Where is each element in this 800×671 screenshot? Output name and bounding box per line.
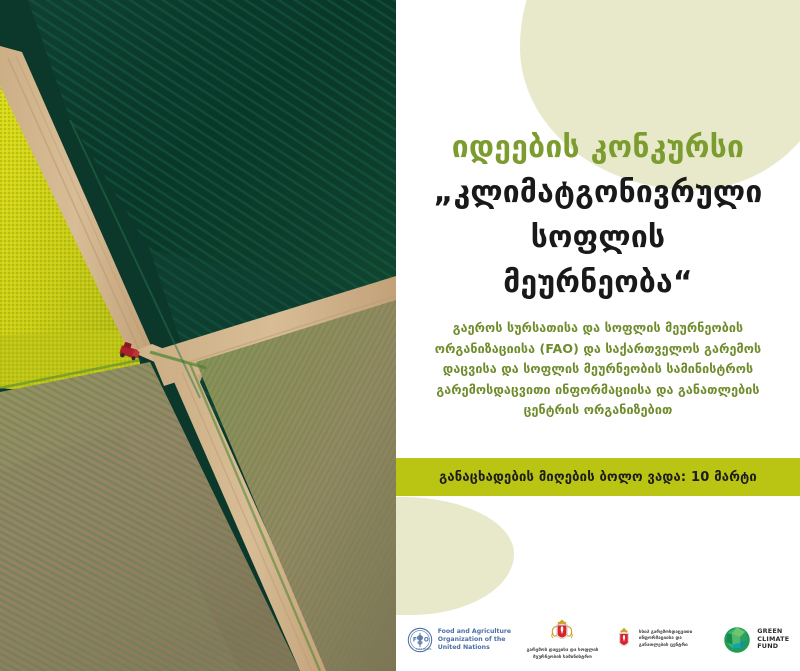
gcf-logo-text: GREEN CLIMATE FUND (757, 628, 789, 651)
description-line: დაცვისა და სოფლის მეურნეობის სამინისტროს (404, 359, 792, 380)
description-line: ცენტრის ორგანიზებით (404, 400, 792, 421)
deadline-banner: განაცხადების მიღების ბოლო ვადა: 10 მარტი (396, 458, 800, 496)
env-center-line-3: განათლების ცენტრი (639, 643, 717, 649)
ministry-logo-text: გარემოს დაცვისა და სოფლის მეურნეობის სამ… (516, 648, 608, 660)
title-line-2b: სოფლის (396, 216, 800, 259)
env-center-emblem-icon (614, 627, 634, 653)
fao-logo-text: Food and Agriculture Organization of the… (438, 628, 511, 652)
logo-strip: F O FIAT PANIS Food and Agriculture Orga… (396, 608, 800, 671)
panel-content: იდეების კონკურსი „კლიმატგონივრული სოფლის… (396, 0, 800, 671)
fao-line-1: Food and Agriculture (438, 628, 511, 636)
description-line: ორგანიზაციისა (FAO) და საქართველოს გარემ… (404, 339, 792, 360)
content-panel: იდეების კონკურსი „კლიმატგონივრული სოფლის… (396, 0, 800, 671)
ministry-logo: გარემოს დაცვისა და სოფლის მეურნეობის სამ… (516, 618, 608, 660)
gcf-line-3: FUND (757, 643, 789, 651)
title-line-2c: მეურნეობა“ (396, 261, 800, 304)
deadline-text: განაცხადების მიღების ბოლო ვადა: 10 მარტი (439, 470, 757, 485)
poster-title: იდეების კონკურსი „კლიმატგონივრული სოფლის… (396, 127, 800, 304)
svg-text:O: O (424, 637, 429, 643)
title-line-1: იდეების კონკურსი (396, 127, 800, 169)
green-climate-fund-logo: GREEN CLIMATE FUND (722, 625, 789, 655)
fao-line-2: Organization of the (438, 636, 511, 644)
fao-emblem-icon: F O FIAT PANIS (407, 627, 433, 653)
fao-logo: F O FIAT PANIS Food and Agriculture Orga… (407, 627, 511, 653)
aerial-photo-illustration (0, 0, 396, 671)
description-line: გაეროს სურსათისა და სოფლის მეურნეობის (404, 318, 792, 339)
organizer-description: გაეროს სურსათისა და სოფლის მეურნეობის ორ… (404, 318, 792, 421)
title-line-2a: „კლიმატგონივრული (396, 171, 800, 214)
poster-root: იდეების კონკურსი „კლიმატგონივრული სოფლის… (0, 0, 800, 671)
svg-text:F: F (413, 637, 417, 643)
fao-line-3: United Nations (438, 644, 511, 652)
georgia-coat-of-arms-icon (547, 618, 577, 646)
gcf-globe-icon (722, 625, 752, 655)
svg-text:FIAT PANIS: FIAT PANIS (416, 646, 432, 650)
env-center-logo-text: სსიპ გარემოსდაცვითი ინფორმაციისა და განა… (639, 630, 717, 649)
description-line: გარემოსდაცვითი ინფორმაციისა და განათლები… (404, 380, 792, 401)
ministry-line-1: გარემოს დაცვისა და სოფლის (516, 648, 608, 654)
aerial-farmland-photo (0, 0, 396, 671)
ministry-line-2: მეურნეობის სამინისტრო (516, 655, 608, 661)
environmental-information-center-logo: სსიპ გარემოსდაცვითი ინფორმაციისა და განა… (614, 627, 717, 653)
